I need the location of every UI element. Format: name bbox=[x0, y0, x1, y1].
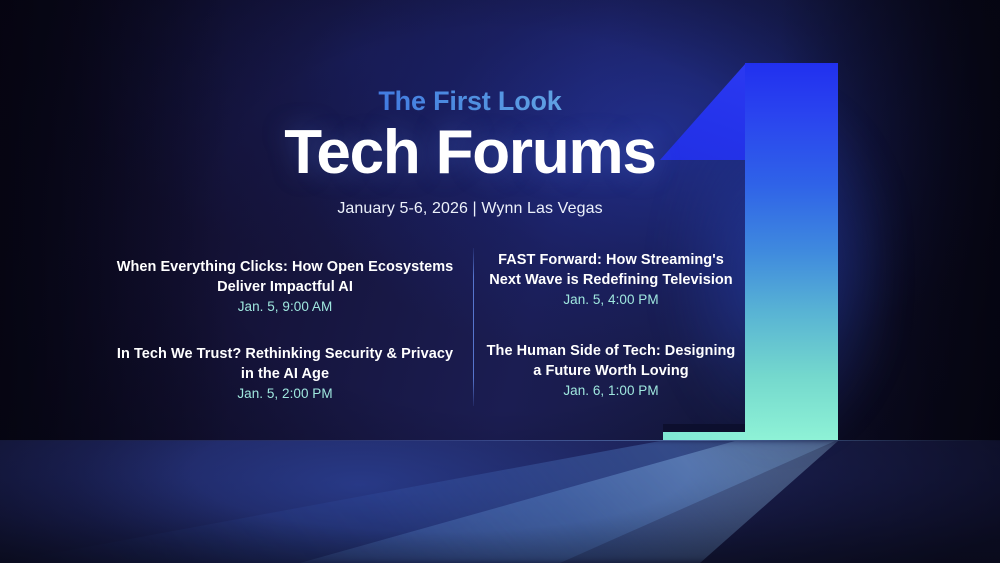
session-time: Jan. 5, 9:00 AM bbox=[110, 298, 460, 316]
session-title: The Human Side of Tech: Designing a Futu… bbox=[486, 342, 736, 381]
eyebrow-text: The First Look bbox=[0, 86, 940, 117]
session-item[interactable]: FAST Forward: How Streaming's Next Wave … bbox=[486, 251, 736, 309]
event-date-venue: January 5-6, 2026 | Wynn Las Vegas bbox=[0, 200, 940, 218]
session-item[interactable]: In Tech We Trust? Rethinking Security & … bbox=[110, 345, 460, 403]
slide-content: The First Look Tech Forums January 5-6, … bbox=[0, 0, 1000, 441]
session-title: When Everything Clicks: How Open Ecosyst… bbox=[110, 258, 460, 297]
session-time: Jan. 5, 2:00 PM bbox=[110, 385, 460, 403]
session-item[interactable]: The Human Side of Tech: Designing a Futu… bbox=[486, 342, 736, 400]
session-title: In Tech We Trust? Rethinking Security & … bbox=[110, 345, 460, 384]
promo-slide: The First Look Tech Forums January 5-6, … bbox=[0, 0, 1000, 563]
page-title: Tech Forums bbox=[0, 122, 940, 184]
column-divider bbox=[473, 248, 474, 406]
session-time: Jan. 6, 1:00 PM bbox=[486, 382, 736, 400]
session-item[interactable]: When Everything Clicks: How Open Ecosyst… bbox=[110, 258, 460, 316]
session-title: FAST Forward: How Streaming's Next Wave … bbox=[486, 251, 736, 290]
session-time: Jan. 5, 4:00 PM bbox=[486, 291, 736, 309]
background-floor bbox=[0, 441, 1000, 563]
